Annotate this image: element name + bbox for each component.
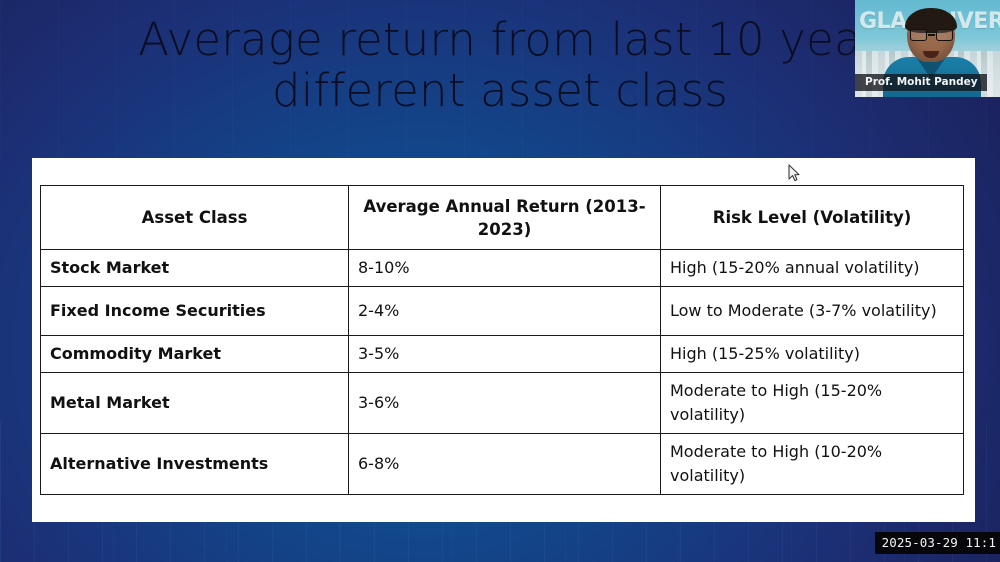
- slide-content-panel: Asset Class Average Annual Return (2013-…: [32, 158, 975, 522]
- cell-asset-class: Metal Market: [41, 373, 349, 434]
- presenter-webcam-overlay[interactable]: GLA UNIVERS Prof. Mohit Pandey: [855, 0, 1000, 97]
- table-row: Fixed Income Securities 2-4% Low to Mode…: [41, 287, 964, 336]
- cell-average-annual-return: 6-8%: [349, 434, 661, 495]
- presenter-name-bar: Prof. Mohit Pandey: [855, 74, 987, 91]
- table-header: Asset Class Average Annual Return (2013-…: [41, 186, 964, 250]
- presentation-slide: Average return from last 10 yea differen…: [0, 0, 1000, 562]
- cell-risk-level: High (15-20% annual volatility): [661, 250, 964, 287]
- table-row: Stock Market 8-10% High (15-20% annual v…: [41, 250, 964, 287]
- cell-average-annual-return: 3-6%: [349, 373, 661, 434]
- cell-average-annual-return: 2-4%: [349, 287, 661, 336]
- cell-average-annual-return: 8-10%: [349, 250, 661, 287]
- recording-timestamp-text: 2025-03-29 11:1: [882, 535, 996, 550]
- cell-risk-level: High (15-25% volatility): [661, 336, 964, 373]
- cell-risk-level: Moderate to High (15-20% volatility): [661, 373, 964, 434]
- cell-asset-class: Alternative Investments: [41, 434, 349, 495]
- cell-asset-class: Commodity Market: [41, 336, 349, 373]
- slide-title: Average return from last 10 yea differen…: [0, 14, 1000, 116]
- asset-class-table: Asset Class Average Annual Return (2013-…: [40, 185, 964, 495]
- table-row: Alternative Investments 6-8% Moderate to…: [41, 434, 964, 495]
- column-header-average-annual-return: Average Annual Return (2013-2023): [349, 186, 661, 250]
- cell-risk-level: Moderate to High (10-20% volatility): [661, 434, 964, 495]
- recording-timestamp: 2025-03-29 11:1: [875, 532, 1000, 554]
- table-body: Stock Market 8-10% High (15-20% annual v…: [41, 250, 964, 495]
- column-header-risk-level: Risk Level (Volatility): [661, 186, 964, 250]
- table-row: Metal Market 3-6% Moderate to High (15-2…: [41, 373, 964, 434]
- cell-average-annual-return: 3-5%: [349, 336, 661, 373]
- column-header-asset-class: Asset Class: [41, 186, 349, 250]
- cell-asset-class: Fixed Income Securities: [41, 287, 349, 336]
- cell-risk-level: Low to Moderate (3-7% volatility): [661, 287, 964, 336]
- table-header-row: Asset Class Average Annual Return (2013-…: [41, 186, 964, 250]
- glasses-icon: [910, 29, 953, 41]
- cell-asset-class: Stock Market: [41, 250, 349, 287]
- presenter-name-label: Prof. Mohit Pandey: [865, 77, 978, 88]
- table-row: Commodity Market 3-5% High (15-25% volat…: [41, 336, 964, 373]
